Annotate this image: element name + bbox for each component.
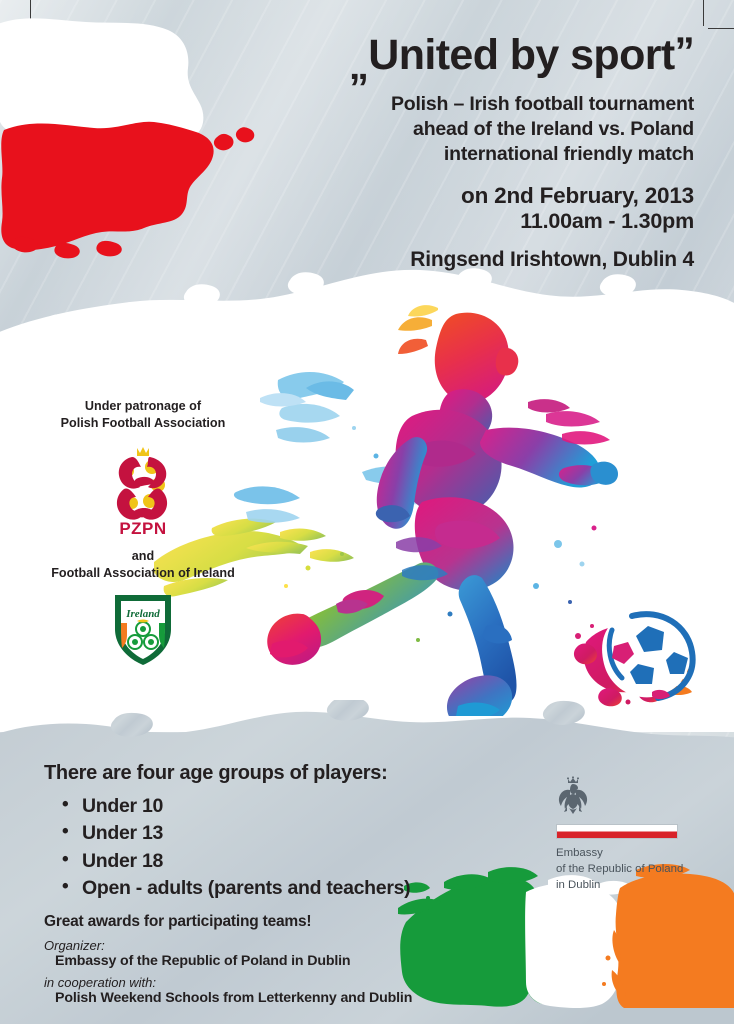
embassy-logo-block: Embassy of the Republic of Poland in Dub…: [556, 776, 696, 894]
poster: „United by sport” Polish – Irish footbal…: [0, 0, 734, 1024]
page-title: „United by sport”: [274, 32, 694, 88]
polish-flag-splash: [0, 18, 284, 286]
football-illustration: [566, 596, 706, 712]
patronage-lead-line-2: Polish Football Association: [18, 415, 268, 432]
fai-lead: Football Association of Ireland: [18, 566, 268, 580]
list-item: Under 10: [62, 793, 514, 820]
list-item: Under 13: [62, 820, 514, 847]
subtitle-line-3: international friendly match: [274, 142, 694, 167]
subtitle-line-1: Polish – Irish football tournament: [274, 92, 694, 117]
and-connector: and: [18, 549, 268, 563]
event-date: on 2nd February, 2013: [274, 183, 694, 209]
quote-close: ”: [675, 32, 694, 74]
event-time: 11.00am - 1.30pm: [274, 209, 694, 234]
pzpn-logo: PZPN: [106, 445, 180, 537]
patronage-lead-line-1: Under patronage of: [18, 398, 268, 415]
cooperation-value: Polish Weekend Schools from Letterkenny …: [55, 990, 514, 1006]
organizer-value: Embassy of the Republic of Poland in Dub…: [55, 953, 514, 969]
embassy-line-3: in Dublin: [556, 877, 696, 893]
polish-flag-bar: [556, 824, 678, 839]
awards-note: Great awards for participating teams!: [44, 913, 514, 931]
age-groups-heading: There are four age groups of players:: [44, 762, 514, 785]
polish-eagle-icon: [556, 776, 590, 816]
title-text: United by sport: [368, 31, 674, 79]
list-item: Under 18: [62, 848, 514, 875]
crop-mark-top-right-horizontal: [708, 28, 734, 29]
info-block: There are four age groups of players: Un…: [44, 762, 514, 1006]
patronage-block: Under patronage of Polish Football Assoc…: [18, 398, 268, 667]
list-item: Open - adults (parents and teachers): [62, 875, 514, 902]
svg-text:PZPN: PZPN: [119, 519, 166, 537]
crop-mark-top-right-vertical: [703, 0, 704, 26]
embassy-line-1: Embassy: [556, 845, 696, 861]
event-venue: Ringsend Irishtown, Dublin 4: [274, 248, 694, 272]
organizer-label: Organizer:: [44, 938, 514, 953]
age-groups-list: Under 10 Under 13 Under 18 Open - adults…: [62, 793, 514, 902]
subtitle: Polish – Irish football tournament ahead…: [274, 92, 694, 167]
header-block: „United by sport” Polish – Irish footbal…: [274, 32, 694, 272]
cooperation-label: in cooperation with:: [44, 975, 514, 990]
patronage-lead: Under patronage of Polish Football Assoc…: [18, 398, 268, 433]
quote-open: „: [349, 46, 368, 88]
fai-logo: Ireland: [109, 589, 177, 667]
svg-text:Ireland: Ireland: [125, 608, 160, 620]
embassy-line-2: of the Republic of Poland: [556, 861, 696, 877]
subtitle-line-2: ahead of the Ireland vs. Poland: [274, 117, 694, 142]
embassy-text: Embassy of the Republic of Poland in Dub…: [556, 845, 696, 894]
